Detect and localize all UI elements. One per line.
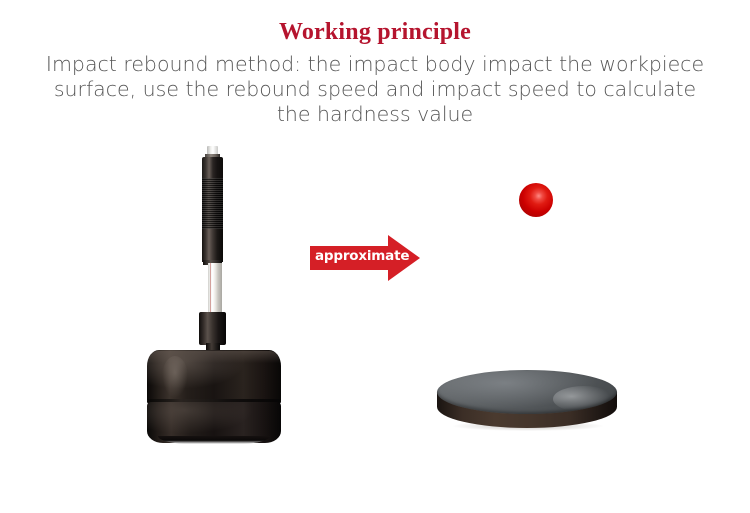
- probe-lower-body: [202, 229, 223, 262]
- device-base-highlight: [162, 356, 188, 398]
- impact-body-ball: [519, 183, 553, 217]
- probe-support-ring: [199, 312, 226, 345]
- page-subtitle: Impact rebound method: the impact body i…: [45, 52, 705, 127]
- working-principle-figure: Working principle Impact rebound method:…: [0, 0, 750, 513]
- probe-loading-tube-line: [210, 263, 211, 314]
- page-title: Working principle: [0, 18, 750, 46]
- probe-upper-collar: [202, 157, 223, 179]
- probe-knurled-grip: [202, 178, 223, 230]
- workpiece-edge-highlight: [553, 386, 615, 412]
- approximate-arrow: approximate: [310, 235, 420, 281]
- workpiece-disc: [435, 368, 619, 436]
- right-arrow-icon: [310, 235, 420, 281]
- device-base-foot: [158, 436, 270, 444]
- impact-device-illustration: [140, 142, 290, 447]
